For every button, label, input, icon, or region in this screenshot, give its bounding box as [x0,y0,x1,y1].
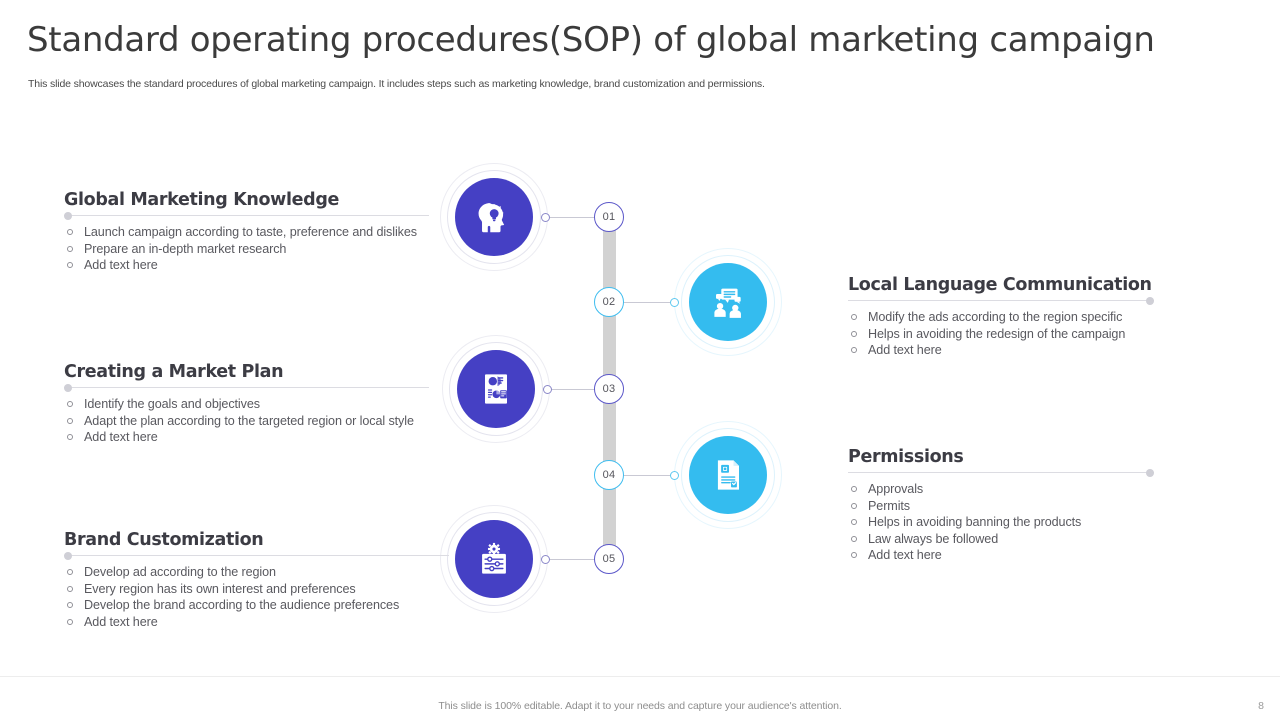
step-rule-05 [64,555,449,556]
list-item: Develop the brand according to the audie… [64,597,449,614]
bullet-icon [851,519,857,525]
slide-root: Standard operating procedures(SOP) of gl… [0,0,1280,720]
connector-line-02 [622,302,673,303]
bullet-icon [67,418,73,424]
step-block-01: Global Marketing Knowledge Launch campai… [64,190,429,274]
bullet-icon [851,347,857,353]
bullet-icon [67,586,73,592]
step-number-01[interactable]: 01 [594,202,624,232]
bullet-icon [851,486,857,492]
report-document-icon [457,350,535,428]
step-number-05[interactable]: 05 [594,544,624,574]
step-icon-node-01[interactable] [440,163,548,271]
step-block-02: Local Language Communication Modify the … [848,275,1154,359]
step-icon-node-03[interactable] [442,335,550,443]
list-item-text: Modify the ads according to the region s… [868,309,1154,326]
list-item-text: Launch campaign according to taste, pref… [84,224,429,241]
list-item-text: Add text here [84,429,429,446]
page-number: 8 [1258,700,1264,712]
step-block-04: Permissions Approvals Permits Helps in a… [848,447,1154,564]
step-bullet-list-02: Modify the ads according to the region s… [848,309,1154,359]
step-title-01: Global Marketing Knowledge [64,190,429,210]
list-item-text: Add text here [84,614,449,631]
bullet-icon [67,262,73,268]
step-bullet-list-01: Launch campaign according to taste, pref… [64,224,429,274]
connector-line-04 [622,475,673,476]
bullet-icon [851,331,857,337]
step-icon-node-05[interactable] [440,505,548,613]
step-title-04: Permissions [848,447,1154,467]
list-item: Add text here [848,547,1154,564]
list-item-text: Helps in avoiding the redesign of the ca… [868,326,1154,343]
bullet-icon [67,229,73,235]
certificate-document-icon [689,436,767,514]
list-item-text: Develop ad according to the region [84,564,449,581]
bullet-icon [851,314,857,320]
step-title-03: Creating a Market Plan [64,362,429,382]
list-item: Modify the ads according to the region s… [848,309,1154,326]
page-title: Standard operating procedures(SOP) of gl… [27,20,1155,60]
bullet-icon [67,569,73,575]
bullet-icon [851,503,857,509]
list-item-text: Add text here [868,342,1154,359]
connector-line-03 [548,389,598,390]
bullet-icon [67,602,73,608]
list-item: Helps in avoiding banning the products [848,514,1154,531]
list-item: Adapt the plan according to the targeted… [64,413,429,430]
rule-end-dot [1146,297,1154,305]
connector-dot-04 [670,471,679,480]
list-item: Permits [848,498,1154,515]
list-item-text: Every region has its own interest and pr… [84,581,449,598]
rule-end-dot [64,212,72,220]
list-item-text: Approvals [868,481,1154,498]
bullet-icon [67,246,73,252]
step-number-01-label: 01 [603,211,616,223]
list-item-text: Permits [868,498,1154,515]
list-item-text: Add text here [84,257,429,274]
list-item-text: Add text here [868,547,1154,564]
bullet-icon [851,536,857,542]
list-item-text: Develop the brand according to the audie… [84,597,449,614]
bullet-icon [851,552,857,558]
connector-dot-01 [541,213,550,222]
footer-note: This slide is 100% editable. Adapt it to… [0,700,1280,712]
head-lightbulb-icon [455,178,533,256]
settings-sliders-icon [455,520,533,598]
step-title-05: Brand Customization [64,530,449,550]
connector-dot-05 [541,555,550,564]
step-title-02: Local Language Communication [848,275,1154,295]
list-item: Add text here [64,257,429,274]
bullet-icon [67,619,73,625]
list-item-text: Law always be followed [868,531,1154,548]
step-bullet-list-05: Develop ad according to the region Every… [64,564,449,630]
step-number-02-label: 02 [603,296,616,308]
footer-divider [0,676,1280,677]
step-bullet-list-03: Identify the goals and objectives Adapt … [64,396,429,446]
step-number-04-label: 04 [603,469,616,481]
list-item: Approvals [848,481,1154,498]
bullet-icon [67,434,73,440]
step-icon-node-02[interactable] [674,248,782,356]
page-subtitle: This slide showcases the standard proced… [28,78,765,90]
list-item: Add text here [64,429,429,446]
list-item-text: Identify the goals and objectives [84,396,429,413]
bullet-icon [67,401,73,407]
list-item-text: Prepare an in-depth market research [84,241,429,258]
list-item: Develop ad according to the region [64,564,449,581]
step-rule-01 [64,215,429,216]
step-rule-02 [848,300,1154,301]
list-item: Helps in avoiding the redesign of the ca… [848,326,1154,343]
step-number-02[interactable]: 02 [594,287,624,317]
step-block-03: Creating a Market Plan Identify the goal… [64,362,429,446]
step-rule-04 [848,472,1154,473]
step-number-04[interactable]: 04 [594,460,624,490]
rule-end-dot [64,384,72,392]
step-number-03-label: 03 [603,383,616,395]
list-item: Prepare an in-depth market research [64,241,429,258]
rule-end-dot [1146,469,1154,477]
list-item-text: Helps in avoiding banning the products [868,514,1154,531]
list-item: Identify the goals and objectives [64,396,429,413]
step-block-05: Brand Customization Develop ad according… [64,530,449,630]
connector-dot-02 [670,298,679,307]
step-rule-03 [64,387,429,388]
connector-dot-03 [543,385,552,394]
connector-line-01 [546,217,598,218]
list-item: Every region has its own interest and pr… [64,581,449,598]
list-item: Launch campaign according to taste, pref… [64,224,429,241]
rule-end-dot [64,552,72,560]
list-item: Add text here [64,614,449,631]
people-chat-icon [689,263,767,341]
list-item: Add text here [848,342,1154,359]
step-bullet-list-04: Approvals Permits Helps in avoiding bann… [848,481,1154,564]
step-icon-node-04[interactable] [674,421,782,529]
connector-line-05 [546,559,598,560]
step-number-05-label: 05 [603,553,616,565]
step-number-03[interactable]: 03 [594,374,624,404]
list-item: Law always be followed [848,531,1154,548]
list-item-text: Adapt the plan according to the targeted… [84,413,429,430]
